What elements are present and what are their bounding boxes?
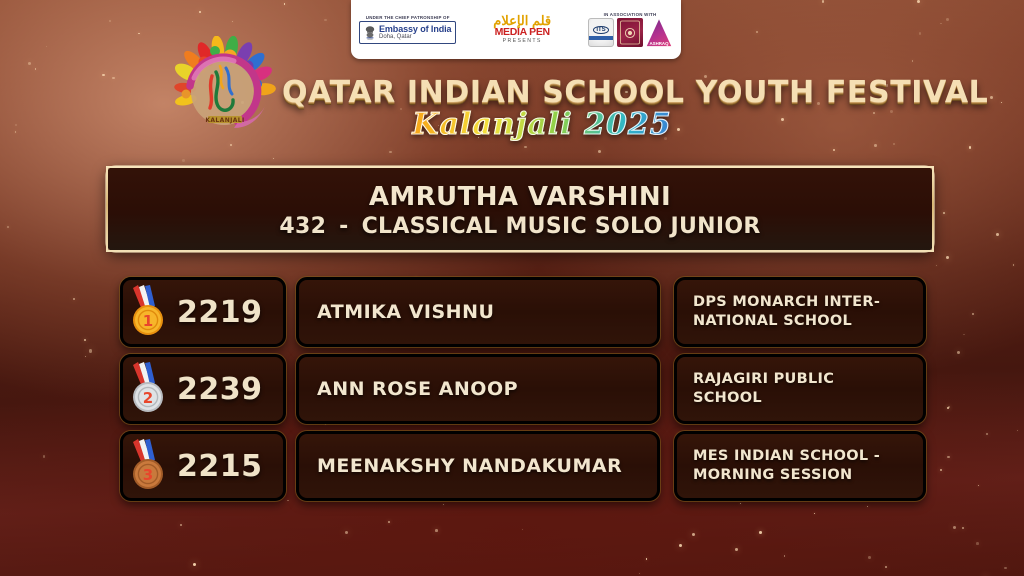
result-row: 2 2239 ANN ROSE ANOOP RAJAGIRI PUBLIC SC…: [0, 354, 1024, 424]
participant-name: MEENAKSHY NANDAKUMAR: [317, 455, 622, 477]
event-title-panel: AMRUTHA VARSHINI 432 - CLASSICAL MUSIC S…: [106, 166, 934, 252]
event-category-label: CLASSICAL MUSIC SOLO JUNIOR: [362, 214, 761, 239]
association-logo-row: ITS ASHRAQ: [588, 18, 672, 47]
result-name-cell: ATMIKA VISHNU: [296, 277, 660, 347]
mar-logo-icon: [617, 18, 643, 47]
svg-text:3: 3: [143, 466, 153, 484]
event-separator: -: [339, 214, 348, 239]
result-name-cell: ANN ROSE ANOOP: [296, 354, 660, 424]
ashraq-logo-icon: ASHRAQ: [646, 18, 672, 47]
media-pen-arabic: قلم الإعلام: [493, 15, 551, 27]
result-code-cell: 1 2219: [120, 277, 286, 347]
svg-text:KALANJALI: KALANJALI: [205, 117, 244, 124]
festival-title: QATAR INDIAN SCHOOL YOUTH FESTIVAL: [282, 76, 802, 110]
media-pen-block: قلم الإعلام MEDIA PEN PRESENTS: [493, 15, 551, 45]
event-category: 432 - CLASSICAL MUSIC SOLO JUNIOR: [279, 214, 760, 239]
media-pen-name: MEDIA PEN: [495, 27, 550, 38]
result-code: 2239: [177, 372, 263, 407]
bronze-medal-icon: 3: [127, 437, 171, 495]
result-school-cell: MES INDIAN SCHOOL - MORNING SESSION: [674, 431, 926, 501]
result-code: 2219: [177, 295, 263, 330]
embassy-city: Doha, Qatar: [379, 34, 451, 41]
media-pen-presents: PRESENTS: [503, 38, 542, 45]
result-school-cell: DPS MONARCH INTER- NATIONAL SCHOOL: [674, 277, 926, 347]
embassy-name: Embassy of India: [379, 24, 451, 34]
festival-edition: Kalanjali 2025: [282, 108, 802, 142]
school-name: MES INDIAN SCHOOL - MORNING SESSION: [693, 447, 880, 485]
ashoka-emblem-icon: [364, 25, 376, 41]
school-line-1: MES INDIAN SCHOOL -: [693, 448, 880, 464]
svg-text:2: 2: [143, 389, 153, 407]
school-line-2: SCHOOL: [693, 390, 762, 406]
svg-text:1: 1: [143, 312, 153, 330]
its-logo-text: ITS: [593, 26, 608, 34]
results-slide: UNDER THE CHIEF PATRONSHIP OF Embassy of…: [0, 0, 1024, 576]
association-caption: IN ASSOCIATION WITH: [604, 12, 657, 17]
silver-medal-icon: 2: [127, 360, 171, 418]
embassy-of-india-logo: Embassy of India Doha, Qatar: [359, 21, 456, 44]
result-row: 1 2219 ATMIKA VISHNU DPS MONARCH INTER- …: [0, 277, 1024, 347]
participant-name: ATMIKA VISHNU: [317, 301, 494, 323]
school-name: RAJAGIRI PUBLIC SCHOOL: [693, 370, 834, 408]
sponsor-banner: UNDER THE CHIEF PATRONSHIP OF Embassy of…: [351, 0, 681, 59]
participant-name: ANN ROSE ANOOP: [317, 378, 518, 400]
result-code-cell: 2 2239: [120, 354, 286, 424]
event-name: AMRUTHA VARSHINI: [369, 182, 671, 212]
result-school-cell: RAJAGIRI PUBLIC SCHOOL: [674, 354, 926, 424]
kalanjali-emblem-icon: KALANJALI: [166, 36, 282, 154]
association-block: IN ASSOCIATION WITH ITS ASHRAQ: [588, 12, 672, 48]
result-row: 3 2215 MEENAKSHY NANDAKUMAR MES INDIAN S…: [0, 431, 1024, 501]
result-code: 2215: [177, 449, 263, 484]
result-code-cell: 3 2215: [120, 431, 286, 501]
school-line-1: RAJAGIRI PUBLIC: [693, 371, 834, 387]
school-line-2: NATIONAL SCHOOL: [693, 313, 852, 329]
results-list: 1 2219 ATMIKA VISHNU DPS MONARCH INTER- …: [0, 277, 1024, 508]
embassy-text: Embassy of India Doha, Qatar: [379, 24, 451, 41]
patronage-caption: UNDER THE CHIEF PATRONSHIP OF: [366, 15, 450, 20]
its-logo-icon: ITS: [588, 18, 614, 47]
ashraq-logo-text: ASHRAQ: [649, 41, 668, 46]
gold-medal-icon: 1: [127, 283, 171, 341]
event-code: 432: [279, 214, 326, 239]
its-logo-ribbon: [589, 36, 613, 40]
school-line-1: DPS MONARCH INTER-: [693, 294, 880, 310]
school-name: DPS MONARCH INTER- NATIONAL SCHOOL: [693, 293, 880, 331]
result-name-cell: MEENAKSHY NANDAKUMAR: [296, 431, 660, 501]
patronage-block: UNDER THE CHIEF PATRONSHIP OF Embassy of…: [359, 15, 456, 45]
school-line-2: MORNING SESSION: [693, 467, 852, 483]
